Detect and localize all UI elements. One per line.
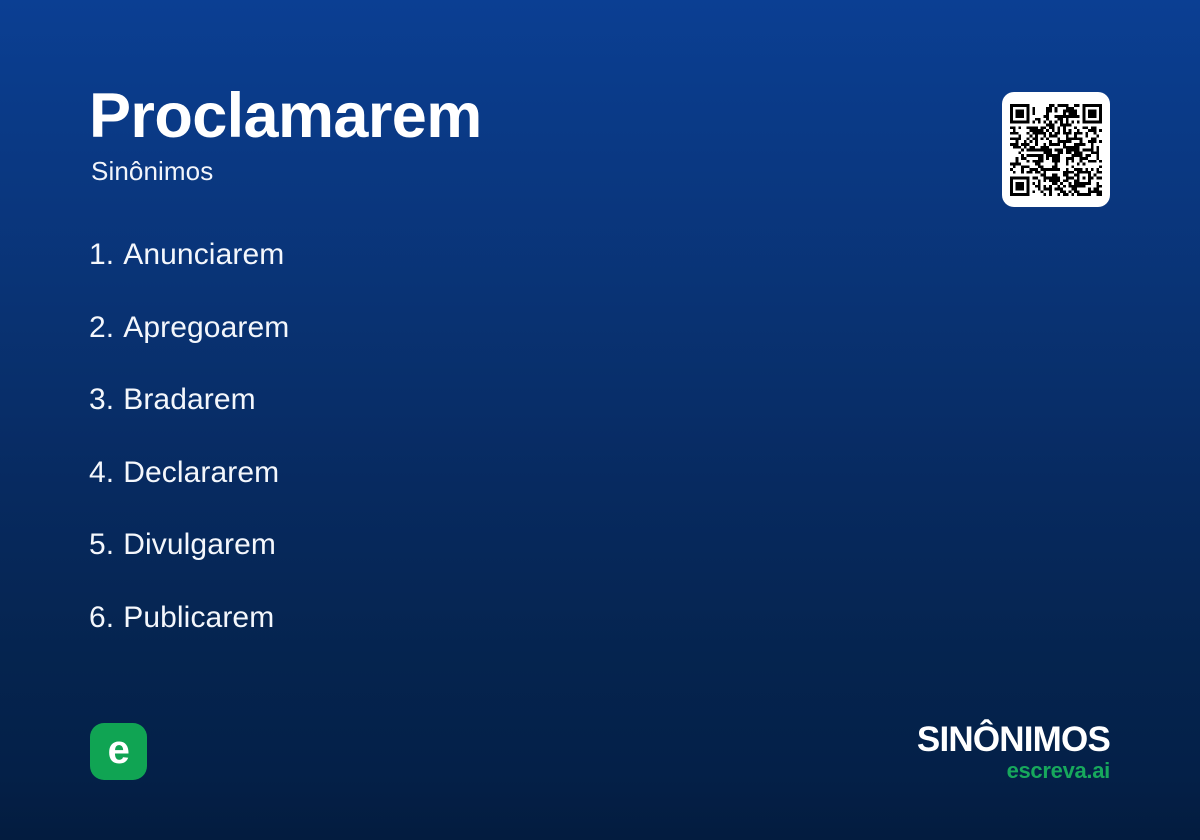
- synonym-list: 1.Anunciarem2.Apregoarem3.Bradarem4.Decl…: [89, 237, 929, 637]
- brand-logo-mark: e: [90, 723, 147, 780]
- list-item-word: Divulgarem: [123, 528, 276, 561]
- brand-logo-letter: e: [108, 730, 130, 770]
- list-item-index: 6.: [89, 601, 114, 634]
- wordmark-primary: SINÔNIMOS: [917, 722, 1110, 757]
- list-item-word: Apregoarem: [123, 311, 289, 344]
- list-item-index: 4.: [89, 456, 114, 489]
- card-header: Proclamarem Sinônimos: [89, 84, 969, 186]
- synonym-card: Proclamarem Sinônimos 1.Anunciarem2.Apre…: [0, 0, 1200, 840]
- brand-wordmark: SINÔNIMOS escreva.ai: [917, 722, 1110, 782]
- list-item-word: Declararem: [123, 456, 279, 489]
- list-item: 3.Bradarem: [89, 382, 929, 419]
- list-item-word: Anunciarem: [123, 238, 284, 271]
- list-item: 4.Declararem: [89, 455, 929, 492]
- page-title: Proclamarem: [89, 84, 969, 148]
- page-subtitle: Sinônimos: [91, 157, 969, 186]
- qr-code[interactable]: [1002, 92, 1110, 207]
- qr-code-icon: [1010, 104, 1102, 196]
- list-item: 6.Publicarem: [89, 600, 929, 637]
- list-item-index: 1.: [89, 238, 114, 271]
- list-item: 5.Divulgarem: [89, 527, 929, 564]
- list-item-index: 5.: [89, 528, 114, 561]
- list-item-index: 3.: [89, 383, 114, 416]
- list-item: 1.Anunciarem: [89, 237, 929, 274]
- list-item-word: Publicarem: [123, 601, 274, 634]
- wordmark-secondary: escreva.ai: [917, 760, 1110, 782]
- list-item-index: 2.: [89, 311, 114, 344]
- list-item: 2.Apregoarem: [89, 310, 929, 347]
- list-item-word: Bradarem: [123, 383, 256, 416]
